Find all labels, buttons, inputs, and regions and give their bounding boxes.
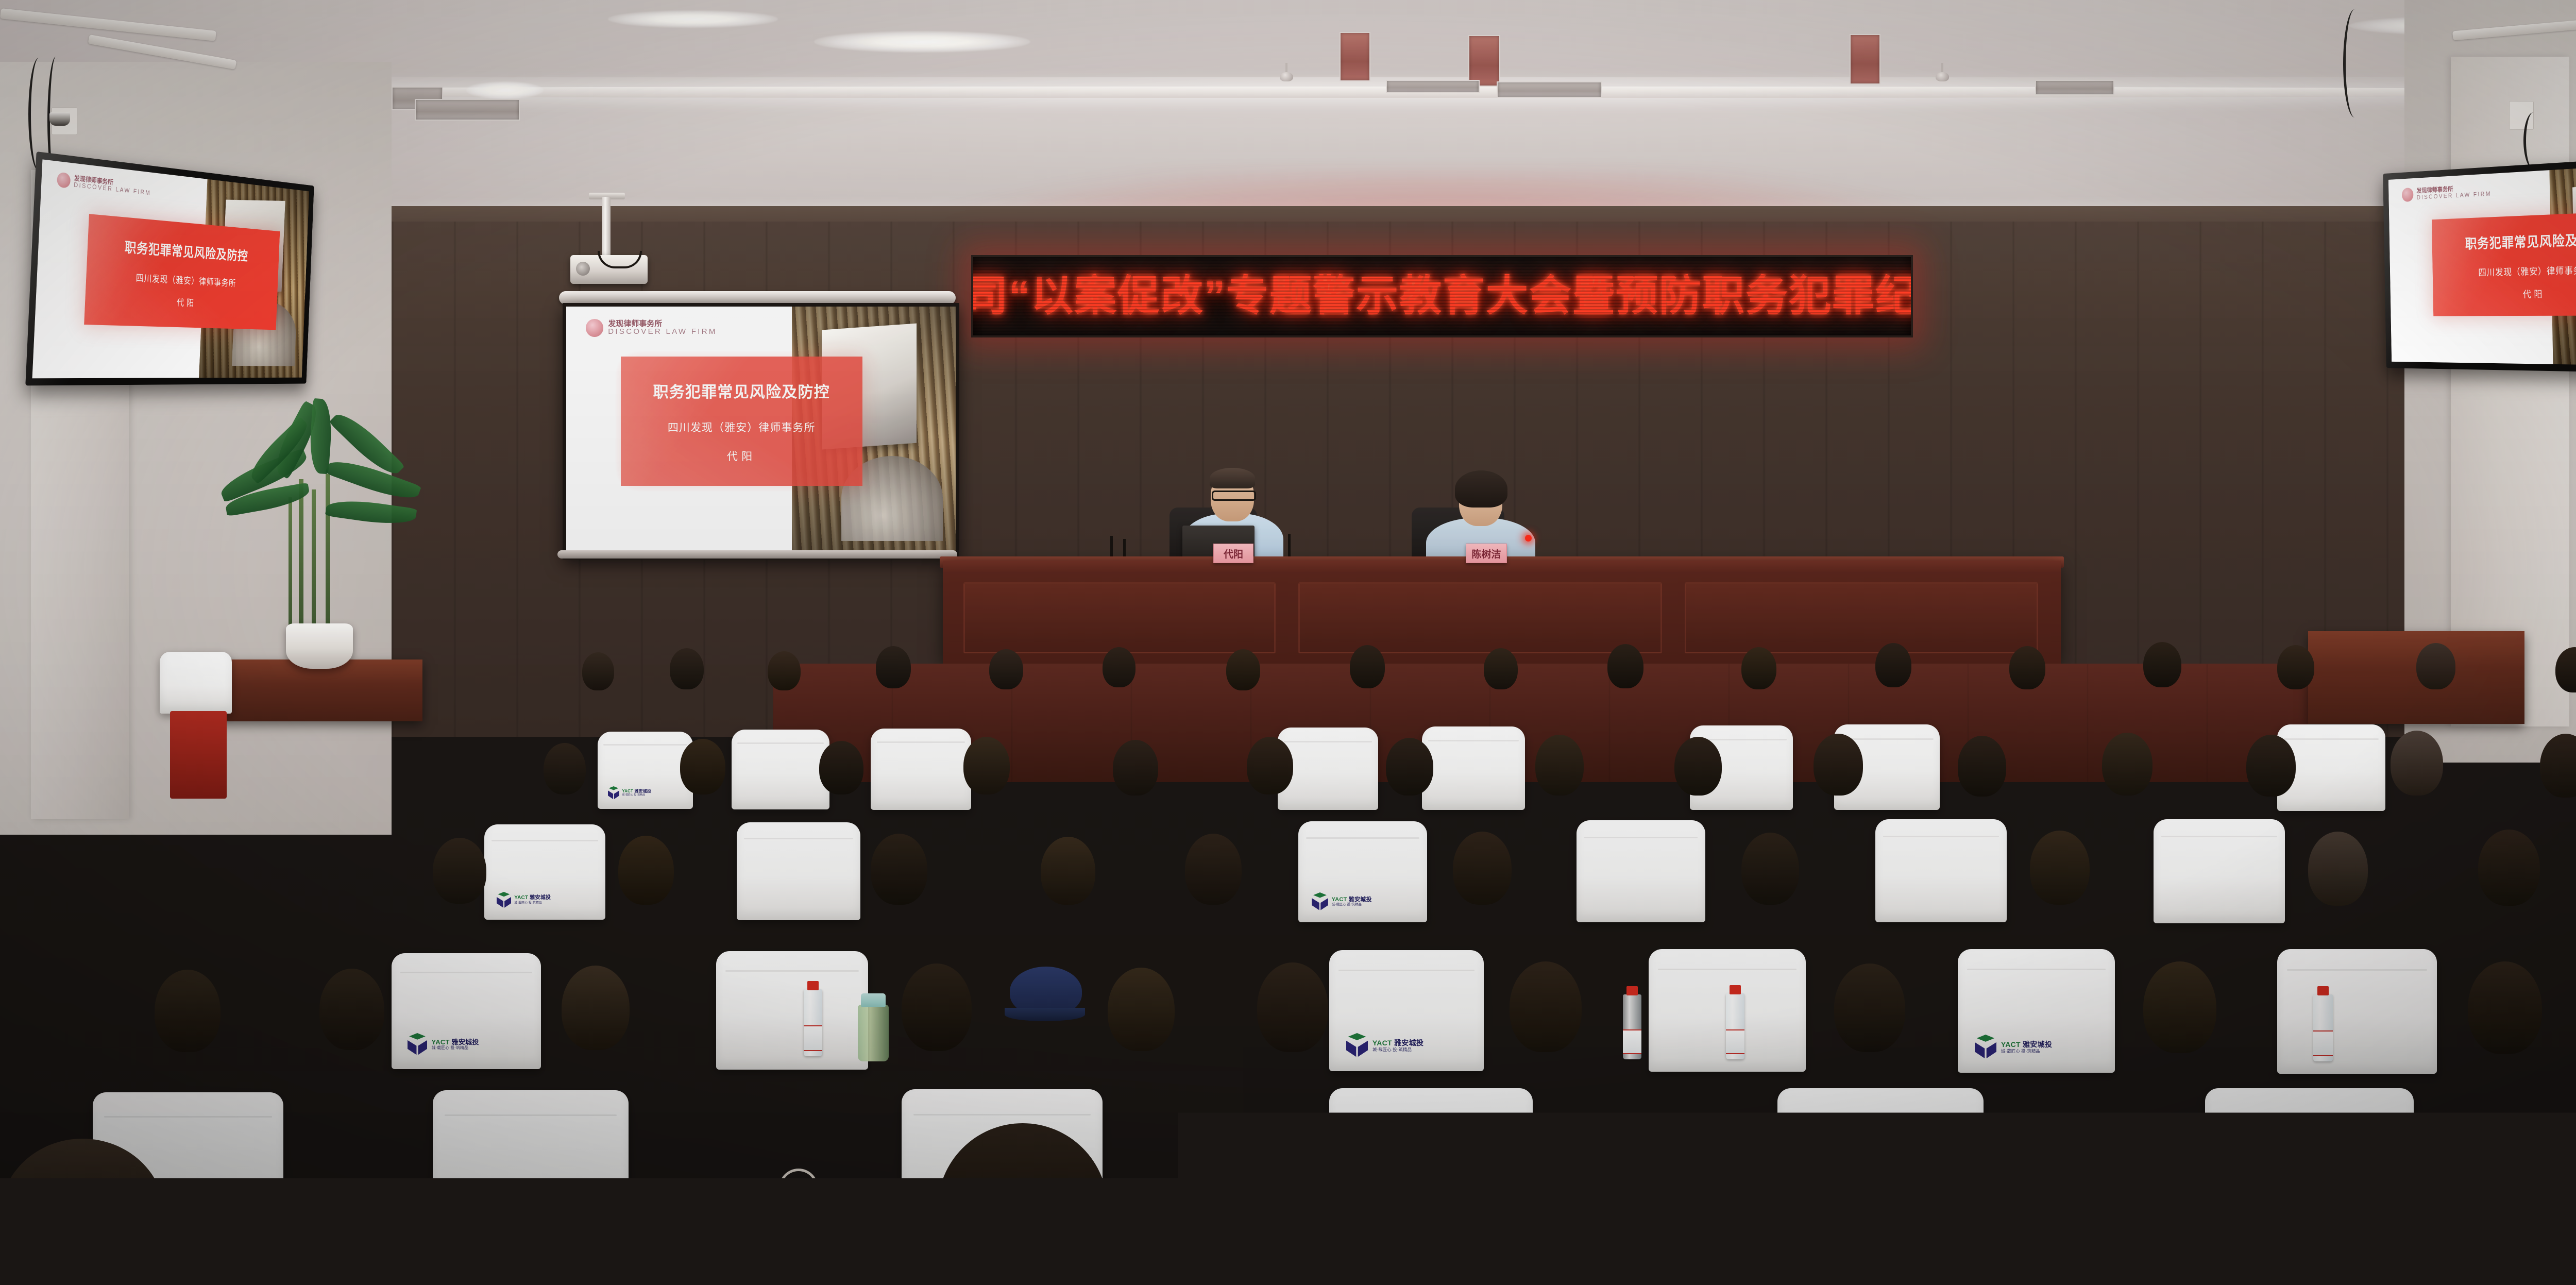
person-hair bbox=[1455, 470, 1507, 508]
slide-firm-logo: 发现律师事务所 DISCOVER LAW FIRM bbox=[2402, 183, 2492, 201]
slide-firm-name-cn: 发现律师事务所 bbox=[608, 320, 717, 328]
law-firm-seal-icon bbox=[2402, 188, 2414, 202]
audience-head bbox=[1226, 649, 1260, 690]
yact-logo: YACT 雅安城投 城·载匠心 投·筑精品 bbox=[1311, 892, 1372, 911]
cube-right-face bbox=[1986, 1040, 1996, 1059]
brand-tagline: 城·载匠心 投·筑精品 bbox=[514, 902, 551, 905]
audience-head-foreground bbox=[0, 1139, 165, 1285]
tumbler-cap bbox=[861, 993, 886, 1007]
cube-right-face bbox=[1320, 897, 1328, 910]
chair-cover: YACT 雅安城投 城·载匠心 投·筑精品 bbox=[1298, 821, 1427, 922]
audience-head bbox=[1834, 963, 1905, 1052]
brand-latin: YACT bbox=[514, 895, 528, 901]
slide-speaker: 代阳 bbox=[2523, 287, 2546, 300]
audience-head bbox=[2308, 832, 2368, 906]
chair-cover-fold bbox=[744, 838, 853, 839]
chair-cover bbox=[1875, 819, 2007, 922]
ceiling-air-vent bbox=[415, 99, 520, 121]
ceiling-air-vent bbox=[1386, 80, 1480, 93]
law-firm-seal-icon bbox=[57, 172, 71, 189]
chair-cover-fold bbox=[1284, 741, 1372, 742]
wall-tv-left: 发现律师事务所 DISCOVER LAW FIRM 职务犯罪常见风险及防控 四川… bbox=[25, 151, 314, 385]
cube-right-face bbox=[2246, 1193, 2263, 1221]
ceiling-downlight bbox=[466, 81, 544, 99]
brand-chinese: 雅安城投 bbox=[2023, 1041, 2052, 1048]
audience-head bbox=[1814, 734, 1863, 796]
brand-latin: YACT bbox=[1332, 897, 1347, 903]
brand-latin: YACT bbox=[1841, 1194, 1868, 1204]
brand-tagline: 城·载匠心 投·筑精品 bbox=[431, 1046, 479, 1050]
audience-head bbox=[1350, 645, 1385, 688]
cube-left-face bbox=[408, 1038, 417, 1055]
presentation-slide: 发现律师事务所 DISCOVER LAW FIRM 职务犯罪常见风险及防控 四川… bbox=[32, 159, 310, 378]
smoke-detector bbox=[1936, 72, 1949, 81]
audience-head bbox=[2143, 642, 2181, 687]
presentation-slide: 发现律师事务所 DISCOVER LAW FIRM 职务犯罪常见风险及防控 四川… bbox=[2388, 162, 2576, 366]
audience-head bbox=[2468, 961, 2542, 1054]
audience-head bbox=[1257, 962, 1328, 1052]
audience-head bbox=[989, 649, 1023, 689]
chair-cover bbox=[1577, 820, 1705, 922]
audience-head bbox=[433, 838, 486, 904]
sprinkler-head bbox=[1941, 63, 1943, 73]
audience-head bbox=[768, 651, 801, 690]
potted-plant-left bbox=[206, 407, 422, 665]
chair-cover-fold bbox=[725, 970, 859, 972]
audience-head bbox=[544, 743, 586, 794]
brand-chinese: 雅安城投 bbox=[1871, 1194, 1911, 1204]
law-firm-seal-icon bbox=[586, 319, 604, 337]
chair-cover-fold bbox=[1338, 970, 1475, 971]
audience-head bbox=[2009, 646, 2045, 689]
audience-head bbox=[680, 739, 725, 794]
audience-head bbox=[1875, 643, 1911, 687]
ceiling-air-vent bbox=[1497, 81, 1602, 98]
chair-cover: YACT 雅安城投 城·载匠心 投·筑精品 bbox=[1329, 950, 1484, 1071]
audience-head bbox=[670, 648, 704, 689]
plant-stem bbox=[312, 489, 316, 639]
ceiling-air-vent bbox=[1340, 32, 1370, 81]
audience-head bbox=[2416, 643, 2455, 689]
audience-head bbox=[1041, 837, 1095, 905]
audience-head bbox=[1510, 961, 1582, 1052]
chair-cover bbox=[737, 822, 860, 920]
cube-icon bbox=[2228, 1185, 2265, 1222]
cube-right-face bbox=[1819, 1192, 1835, 1220]
cube-icon bbox=[406, 1033, 429, 1056]
conference-hall-photo: 城投公司“以案促改”专题警示教育大会暨预防职务犯罪纪法讲座 发现律师事务所 DI… bbox=[0, 0, 2576, 1285]
tea-tumbler bbox=[858, 1005, 889, 1061]
yact-logo: YACT 雅安城投 城·载匠心 投·筑精品 bbox=[2228, 1185, 2338, 1222]
audience-head bbox=[1185, 834, 1242, 905]
water-bottle bbox=[1726, 993, 1744, 1059]
chair-cover-fold bbox=[1658, 969, 1796, 970]
cube-top-face bbox=[1357, 1183, 1384, 1199]
chair-cover-fold bbox=[2284, 738, 2379, 740]
chair-cover-fold bbox=[1790, 1113, 1971, 1115]
slide-title-block: 职务犯罪常见风险及防控 四川发现（雅安）律师事务所 代阳 bbox=[621, 357, 862, 486]
tv-right-panel: 发现律师事务所 DISCOVER LAW FIRM 职务犯罪常见风险及防控 四川… bbox=[2388, 162, 2576, 366]
chair-cover bbox=[2277, 949, 2437, 1074]
audience-head bbox=[871, 834, 927, 905]
chair-cover-fold bbox=[1342, 1113, 1521, 1115]
chair-cover-fold bbox=[1306, 837, 1419, 839]
brand-latin: YACT bbox=[2269, 1195, 2296, 1205]
yact-logo: YACT 雅安城投 城·载匠心 投·筑精品 bbox=[453, 1184, 558, 1219]
brand-tagline: 城·载匠心 投·筑精品 bbox=[1393, 1204, 1463, 1210]
cube-top-face bbox=[498, 892, 510, 899]
projector-lens-icon bbox=[576, 262, 590, 276]
slide-organization: 四川发现（雅安）律师事务所 bbox=[135, 271, 236, 290]
cube-right-face bbox=[471, 1192, 486, 1218]
audience-head bbox=[1386, 738, 1433, 796]
brand-chinese: 雅安城投 bbox=[1422, 1193, 1463, 1203]
cube-icon bbox=[453, 1184, 488, 1219]
eyeglasses-icon bbox=[1212, 491, 1256, 501]
chair-cover-fold bbox=[1883, 836, 1998, 837]
security-camera bbox=[49, 112, 70, 126]
audience-head bbox=[1484, 648, 1518, 689]
chair-cover-fold bbox=[1584, 837, 1698, 838]
power-cable bbox=[2343, 9, 2366, 117]
wall-tv-right: 发现律师事务所 DISCOVER LAW FIRM 职务犯罪常见风险及防控 四川… bbox=[2383, 155, 2576, 374]
cube-top-face bbox=[1348, 1033, 1366, 1044]
chair-cover-fold bbox=[400, 972, 532, 973]
yact-logo: YACT 雅安城投 城·载匠心 投·筑精品 bbox=[1345, 1033, 1423, 1058]
chair-cover-fold bbox=[913, 1114, 1090, 1115]
cube-right-face bbox=[1370, 1191, 1387, 1219]
cube-top-face bbox=[409, 1033, 426, 1043]
slide-title-block: 职务犯罪常见风险及防控 四川发现（雅安）律师事务所 代阳 bbox=[84, 214, 280, 330]
cube-left-face bbox=[1312, 897, 1320, 910]
brand-chinese: 雅安城投 bbox=[530, 895, 551, 901]
audience-head bbox=[2555, 647, 2576, 692]
cube-top-face bbox=[2233, 1185, 2260, 1202]
slide-title: 职务犯罪常见风险及防控 bbox=[653, 379, 830, 402]
audience-head-foreground bbox=[938, 1123, 1108, 1285]
slide-firm-logo: 发现律师事务所 DISCOVER LAW FIRM bbox=[57, 172, 151, 197]
bottle-cap bbox=[807, 981, 819, 990]
seat-row: YACT 雅安城投 城·载匠心 投·筑精品 bbox=[0, 788, 2576, 933]
seat-frame-red bbox=[2009, 1211, 2041, 1285]
audience-head bbox=[1535, 735, 1584, 796]
tv-left-panel: 发现律师事务所 DISCOVER LAW FIRM 职务犯罪常见风险及防控 四川… bbox=[32, 159, 310, 378]
brand-latin: YACT bbox=[493, 1193, 518, 1203]
slide-firm-name-en: DISCOVER LAW FIRM bbox=[608, 328, 717, 336]
chair-cover bbox=[716, 951, 868, 1070]
audience-head bbox=[876, 646, 911, 688]
audience-head bbox=[2102, 733, 2153, 796]
ceiling-air-vent bbox=[2035, 80, 2114, 95]
led-banner: 城投公司“以案促改”专题警示教育大会暨预防职务犯罪纪法讲座 bbox=[971, 255, 1913, 337]
chair-cover: YACT 雅安城投 城·载匠心 投·筑精品 bbox=[433, 1090, 629, 1243]
brand-tagline: 城·载匠心 投·筑精品 bbox=[1372, 1047, 1423, 1052]
sprinkler-head bbox=[1285, 63, 1287, 73]
cube-icon bbox=[1345, 1033, 1369, 1058]
cube-icon bbox=[1352, 1183, 1389, 1220]
brand-chinese: 雅安城投 bbox=[178, 1194, 216, 1203]
cube-top-face bbox=[1805, 1184, 1832, 1201]
chair-cover: YACT 雅安城投 城·载匠心 投·筑精品 bbox=[1777, 1088, 1984, 1246]
audience-head bbox=[2391, 731, 2443, 796]
slide-title: 职务犯罪常见风险及防控 bbox=[2465, 228, 2576, 252]
cube-right-face bbox=[504, 895, 511, 908]
brand-latin: YACT bbox=[431, 1039, 449, 1045]
chair-cover-fold bbox=[1967, 969, 2105, 970]
presentation-slide: 发现律师事务所 DISCOVER LAW FIRM 职务犯罪常见风险及防控 四川… bbox=[566, 307, 956, 556]
audience-head bbox=[155, 970, 221, 1052]
microphone-indicator-light bbox=[1525, 535, 1532, 542]
cube-right-face bbox=[417, 1038, 427, 1055]
brand-latin: YACT bbox=[1372, 1039, 1392, 1046]
audience-head bbox=[1607, 644, 1643, 688]
brand-chinese: 雅安城投 bbox=[1349, 897, 1372, 903]
audience-head bbox=[1958, 736, 2006, 797]
audience-head bbox=[618, 836, 674, 905]
cap-brim bbox=[1005, 1008, 1085, 1021]
audience-head bbox=[902, 963, 972, 1051]
chair-cover bbox=[2154, 819, 2285, 923]
yact-logo: YACT 雅安城投 城·载匠心 投·筑精品 bbox=[1352, 1183, 1463, 1220]
slide-title-block: 职务犯罪常见风险及防控 四川发现（雅安）律师事务所 代阳 bbox=[2432, 211, 2576, 316]
audience-seating: YACT 雅安城投 城·载匠心 投·筑精品 bbox=[0, 634, 2576, 1285]
cube-top-face bbox=[459, 1184, 484, 1199]
audience-head bbox=[2143, 961, 2216, 1053]
cube-right-face bbox=[1357, 1039, 1368, 1057]
chair-cover-fold bbox=[603, 744, 687, 746]
ceiling-air-vent bbox=[1850, 34, 1880, 84]
bottle-label bbox=[1726, 1029, 1744, 1054]
cube-icon bbox=[1800, 1184, 1837, 1221]
cube-top-face bbox=[1313, 892, 1327, 901]
cube-icon bbox=[1311, 892, 1329, 911]
smoke-detector bbox=[1280, 72, 1293, 81]
cube-left-face bbox=[497, 895, 504, 908]
ceiling-air-vent bbox=[1468, 35, 1500, 87]
person-hair bbox=[1210, 468, 1255, 488]
ceiling-downlight bbox=[814, 31, 1030, 53]
audience-head bbox=[562, 966, 630, 1050]
chair-cover-fold bbox=[877, 741, 965, 743]
brand-tagline: 城·载匠心 投·筑精品 bbox=[493, 1204, 558, 1210]
slide-organization: 四川发现（雅安）律师事务所 bbox=[2478, 263, 2576, 278]
chair-cover: YACT 雅安城投 城·载匠心 投·筑精品 bbox=[484, 824, 605, 920]
name-card-speaker: 代阳 bbox=[1213, 544, 1253, 563]
audience-head bbox=[2030, 831, 2090, 905]
cube-left-face bbox=[1346, 1039, 1357, 1057]
chair-cover-fold bbox=[1428, 740, 1519, 741]
ceiling-downlight bbox=[608, 10, 778, 28]
plant-leaf bbox=[325, 496, 417, 528]
audience-head bbox=[2478, 830, 2540, 906]
cube-left-face bbox=[455, 1192, 471, 1218]
slide-speaker: 代阳 bbox=[176, 296, 196, 309]
audience-head bbox=[963, 737, 1010, 794]
cube-icon bbox=[496, 892, 512, 908]
audience-head bbox=[1741, 833, 1799, 905]
audience-head bbox=[319, 969, 384, 1050]
yact-logo: YACT 雅安城投 城·载匠心 投·筑精品 bbox=[1800, 1184, 1911, 1221]
audience-head bbox=[1741, 647, 1776, 689]
yact-logo: YACT 雅安城投 城·载匠心 投·筑精品 bbox=[406, 1033, 479, 1056]
bottle-cap bbox=[2317, 986, 2329, 995]
audience-head bbox=[1108, 968, 1175, 1051]
power-cable bbox=[2523, 112, 2544, 169]
bottle-label bbox=[2313, 1030, 2333, 1056]
chair-cover-fold bbox=[2287, 969, 2428, 971]
cube-left-face bbox=[1354, 1191, 1370, 1219]
brand-chinese: 雅安城投 bbox=[452, 1039, 479, 1045]
seat-frame-red bbox=[1128, 1211, 1160, 1285]
bottle-label bbox=[1623, 1029, 1641, 1054]
slide-speaker: 代阳 bbox=[727, 448, 756, 464]
slide-title: 职务犯罪常见风险及防控 bbox=[124, 237, 248, 265]
chair-cover-fold bbox=[2217, 1113, 2401, 1115]
cube-left-face bbox=[1975, 1040, 1986, 1059]
audience-head-foreground bbox=[2324, 1118, 2504, 1285]
cube-icon bbox=[1973, 1035, 1998, 1059]
audience-head bbox=[1453, 832, 1512, 905]
brand-tagline: 城·载匠心 投·筑精品 bbox=[1332, 903, 1372, 907]
brand-chinese: 雅安城投 bbox=[1394, 1039, 1423, 1046]
audience-head bbox=[1113, 740, 1158, 796]
brand-tagline: 城·载匠心 投·筑精品 bbox=[2001, 1049, 2052, 1054]
chair-cover: YACT 雅安城投 城·载匠心 投·筑精品 bbox=[1958, 949, 2115, 1073]
bottle-label bbox=[804, 1025, 822, 1051]
seat-row: YACT 雅安城投 城·载匠心 投·筑精品 bbox=[0, 1056, 2576, 1285]
brand-tagline: 城·载匠心 投·筑精品 bbox=[1841, 1205, 1911, 1211]
chair-cover-fold bbox=[492, 840, 598, 841]
water-bottle bbox=[1623, 994, 1641, 1059]
slide-firm-logo: 发现律师事务所 DISCOVER LAW FIRM bbox=[586, 319, 717, 337]
brand-latin: YACT bbox=[1393, 1193, 1420, 1203]
chair-cover: YACT 雅安城投 城·载匠心 投·筑精品 bbox=[1329, 1088, 1533, 1245]
plant-stem bbox=[289, 497, 292, 639]
audience-head-foreground bbox=[2040, 1175, 2205, 1285]
name-card-host: 陈树洁 bbox=[1466, 544, 1507, 563]
plant-stem bbox=[299, 479, 303, 639]
plant-stem bbox=[326, 474, 330, 639]
bottle-cap bbox=[1730, 985, 1741, 994]
audience-head bbox=[1247, 737, 1293, 794]
brand-chinese: 雅安城投 bbox=[520, 1193, 558, 1203]
yact-logo: YACT 雅安城投 城·载匠心 投·筑精品 bbox=[496, 892, 551, 908]
led-banner-text: 城投公司“以案促改”专题警示教育大会暨预防职务犯罪纪法讲座 bbox=[971, 275, 1913, 317]
cube-top-face bbox=[1977, 1035, 1995, 1045]
audience-head-foreground bbox=[1546, 1139, 1721, 1285]
chair-cover-fold bbox=[445, 1114, 617, 1116]
yact-logo: YACT 雅安城投 城·载匠心 投·筑精品 bbox=[1973, 1035, 2052, 1059]
bottle-cap bbox=[1626, 986, 1638, 995]
projection-screen-weight-bar bbox=[557, 550, 957, 559]
slide-organization: 四川发现（雅安）律师事务所 bbox=[668, 419, 816, 435]
chair-cover: YACT 雅安城投 城·载匠心 投·筑精品 bbox=[392, 953, 541, 1069]
brand-latin: YACT bbox=[2001, 1041, 2021, 1048]
projection-screen: 发现律师事务所 DISCOVER LAW FIRM 职务犯罪常见风险及防控 四川… bbox=[563, 303, 959, 560]
cube-left-face bbox=[1802, 1192, 1819, 1220]
cube-left-face bbox=[2230, 1193, 2246, 1221]
water-bottle bbox=[804, 989, 822, 1056]
audience-head bbox=[582, 652, 614, 690]
audience-head bbox=[1674, 737, 1722, 796]
audience-head bbox=[2246, 735, 2296, 797]
chair-cover-fold bbox=[104, 1116, 272, 1118]
water-bottle bbox=[2313, 994, 2333, 1061]
projector-mount-pole bbox=[602, 197, 611, 258]
audience-head bbox=[2277, 645, 2314, 689]
chair-cover-fold bbox=[737, 742, 823, 744]
audience-head bbox=[819, 741, 863, 794]
chair-cover-fold bbox=[1840, 738, 1933, 740]
right-wall-pillar bbox=[2451, 57, 2569, 726]
chair-cover-fold bbox=[2161, 836, 2277, 837]
audience-head bbox=[1103, 647, 1136, 687]
